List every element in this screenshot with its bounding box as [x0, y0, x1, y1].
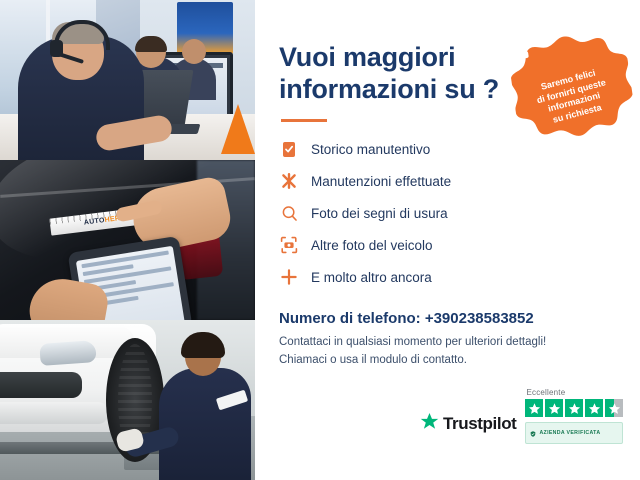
status-badge: Saremo felici di fornirti queste informa…	[506, 26, 640, 163]
trustpilot-rating[interactable]: Trustpilot Eccellente	[420, 388, 623, 444]
list-item: E molto altro ancora	[279, 266, 616, 288]
mechanic-body	[159, 368, 251, 480]
trustpilot-wordmark: Trustpilot	[443, 414, 516, 434]
list-item-label: Storico manutentivo	[311, 142, 430, 157]
badge-text: Saremo felici di fornirti queste informa…	[533, 66, 614, 129]
trustpilot-score: Eccellente	[525, 388, 623, 444]
info-request-banner: AUTOHERO	[0, 0, 640, 480]
list-item-label: E molto altro ancora	[311, 270, 432, 285]
star-filled	[525, 399, 543, 417]
trustpilot-stars	[525, 399, 623, 417]
tools-icon	[279, 171, 299, 191]
car-lower-bumper	[0, 402, 108, 424]
car-inspection-ruler-photo: AUTOHERO	[0, 160, 255, 320]
star-filled	[585, 399, 603, 417]
contact-hint-line-1: Contattaci in qualsiasi momento per ulte…	[279, 334, 616, 352]
phone-number[interactable]: Numero di telefono: +390238583852	[279, 310, 616, 327]
list-item: Foto dei segni di usura	[279, 202, 616, 224]
contact-hint-line-2: Chiamaci o usa il modulo di contatto.	[279, 352, 616, 370]
star-half	[605, 399, 623, 417]
trustpilot-star-icon	[420, 412, 439, 436]
list-item-label: Foto dei segni di usura	[311, 206, 448, 221]
magnifier-icon	[279, 203, 299, 223]
verified-company-label: AZIENDA VERIFICATA	[539, 430, 600, 436]
list-item: Altre foto del veicolo	[279, 234, 616, 256]
call-center-agents-photo	[0, 0, 255, 160]
checklist-icon	[279, 139, 299, 159]
page-title: Vuoi maggiori informazioni su ?	[279, 42, 509, 105]
photo-strip: AUTOHERO	[0, 0, 255, 480]
list-item-label: Manutenzioni effettuate	[311, 174, 451, 189]
trustpilot-rating-label: Eccellente	[526, 388, 565, 397]
verified-company-badge: AZIENDA VERIFICATA	[525, 422, 623, 444]
star-filled	[545, 399, 563, 417]
trustpilot-brand: Trustpilot	[420, 412, 516, 444]
title-divider	[281, 119, 327, 122]
headline-line-1: Vuoi maggiori	[279, 42, 455, 72]
photo-scan-icon	[279, 235, 299, 255]
agent-background-head	[182, 39, 206, 64]
traffic-cone	[221, 104, 255, 154]
headline-line-2: informazioni su ?	[279, 74, 499, 104]
star-filled	[565, 399, 583, 417]
plus-icon	[279, 267, 299, 287]
autohero-logo-part1: AUTO	[84, 217, 106, 226]
verified-shield-icon	[530, 424, 536, 442]
list-item: Manutenzioni effettuate	[279, 170, 616, 192]
agent-second-hair	[135, 36, 167, 52]
list-item-label: Altre foto del veicolo	[311, 238, 433, 253]
content-panel: Vuoi maggiori informazioni su ? Storico …	[255, 0, 640, 480]
badge-content: Saremo felici di fornirti queste informa…	[506, 26, 640, 163]
mechanic-wheel-check-photo	[0, 320, 255, 480]
car-grille	[0, 372, 82, 398]
car-headlight	[39, 340, 96, 366]
feature-list: Storico manutentivo Manutenzioni effettu…	[279, 138, 616, 288]
